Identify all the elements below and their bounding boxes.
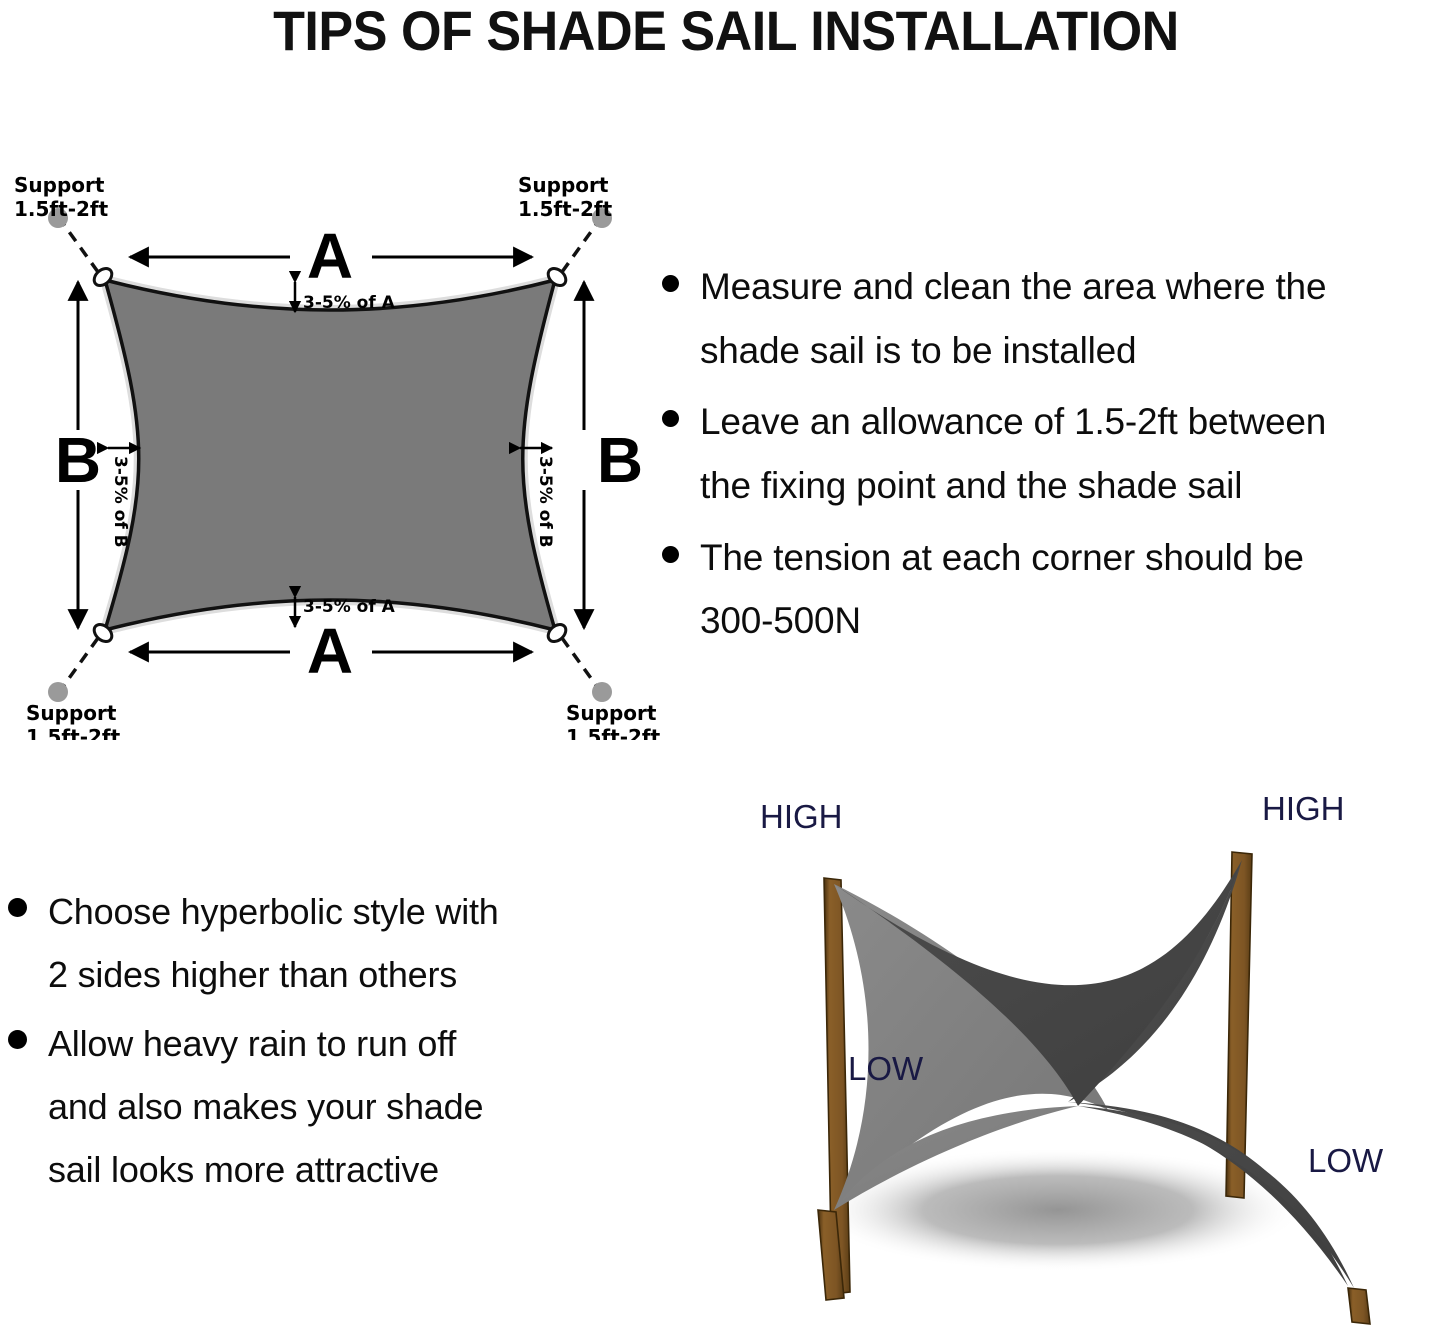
tip-line: The tension at each corner should be: [700, 526, 1452, 590]
installation-tips-list: Measure and clean the area where the sha…: [648, 255, 1452, 675]
list-item: Choose hyperbolic style with 2 sides hig…: [0, 880, 640, 1006]
label-high-left: HIGH: [760, 798, 843, 835]
curve-label-bottom: 3-5% of A: [303, 597, 396, 617]
bullet-dot-icon: [8, 1030, 27, 1049]
pole-low-right: [1348, 1288, 1370, 1324]
hyperbolic-bullet-list: Choose hyperbolic style with 2 sides hig…: [0, 880, 640, 1201]
list-item: Measure and clean the area where the sha…: [648, 255, 1452, 382]
support-dot-bottom-left: [48, 682, 68, 702]
tip-line: 2 sides higher than others: [48, 943, 640, 1006]
page-title-bar: TIPS OF SHADE SAIL INSTALLATION: [0, 0, 1452, 62]
support-label-bottom-left: Support 1.5ft-2ft: [26, 701, 121, 740]
tether-line-bottom-left: [62, 638, 98, 688]
label-low-left: LOW: [848, 1050, 924, 1087]
list-item: Leave an allowance of 1.5-2ft between th…: [648, 390, 1452, 517]
tether-line-bottom-right: [562, 638, 598, 688]
tip-line: the fixing point and the shade sail: [700, 454, 1452, 518]
support-label-bottom-right-line2: 1.5ft-2ft: [566, 725, 660, 740]
support-label-bottom-right: Support 1.5ft-2ft: [566, 701, 660, 740]
tip-line: Choose hyperbolic style with: [48, 880, 640, 943]
tether-line-top-right: [562, 222, 598, 272]
dimension-label-a-top: A: [307, 220, 353, 292]
bullet-dot-icon: [662, 410, 679, 427]
sail-dimensions-diagram: Support 1.5ft-2ft Support 1.5ft-2ft Supp…: [0, 160, 660, 740]
tip-line: shade sail is to be installed: [700, 319, 1452, 383]
bullet-dot-icon: [8, 898, 27, 917]
curve-label-top: 3-5% of A: [303, 293, 396, 313]
sail-dimensions-svg: Support 1.5ft-2ft Support 1.5ft-2ft Supp…: [0, 160, 660, 740]
tip-line: 300-500N: [700, 589, 1452, 653]
tether-line-top-left: [62, 222, 98, 272]
label-low-right: LOW: [1308, 1142, 1384, 1179]
dimension-label-b-left: B: [55, 424, 101, 496]
list-item: Allow heavy rain to run off and also mak…: [0, 1012, 640, 1201]
hyperbolic-tips-list: Choose hyperbolic style with 2 sides hig…: [0, 880, 640, 1240]
support-label-top-right-line2: 1.5ft-2ft: [518, 197, 613, 221]
tip-line: Measure and clean the area where the: [700, 255, 1452, 319]
curve-label-left: 3-5% of B: [110, 456, 130, 548]
list-item: The tension at each corner should be 300…: [648, 526, 1452, 653]
bullet-dot-icon: [662, 546, 679, 563]
support-label-top-right: Support 1.5ft-2ft: [518, 173, 613, 221]
tip-line: Leave an allowance of 1.5-2ft between: [700, 390, 1452, 454]
dimension-label-a-bottom: A: [307, 615, 353, 687]
hyperbolic-sail-svg: HIGH HIGH LOW LOW: [648, 780, 1452, 1325]
tip-line: Allow heavy rain to run off: [48, 1012, 640, 1075]
label-high-right: HIGH: [1262, 790, 1345, 827]
support-label-bottom-left-line1: Support: [26, 701, 117, 725]
tip-line: and also makes your shade: [48, 1075, 640, 1138]
support-label-bottom-left-line2: 1.5ft-2ft: [26, 725, 121, 740]
support-label-bottom-right-line1: Support: [566, 701, 657, 725]
tips-bullet-list: Measure and clean the area where the sha…: [648, 255, 1452, 653]
curve-label-right: 3-5% of B: [535, 456, 555, 548]
support-label-top-left-line1: Support: [14, 173, 105, 197]
tip-line: sail looks more attractive: [48, 1138, 640, 1201]
support-label-top-left: Support 1.5ft-2ft: [14, 173, 109, 221]
support-label-top-left-line2: 1.5ft-2ft: [14, 197, 109, 221]
hyperbolic-sail-illustration: HIGH HIGH LOW LOW: [648, 780, 1452, 1325]
page-title: TIPS OF SHADE SAIL INSTALLATION: [273, 3, 1179, 59]
dimension-label-b-right: B: [597, 424, 643, 496]
shade-sail-shape: [105, 280, 555, 630]
bullet-dot-icon: [662, 275, 679, 292]
support-label-top-right-line1: Support: [518, 173, 609, 197]
support-dot-bottom-right: [592, 682, 612, 702]
